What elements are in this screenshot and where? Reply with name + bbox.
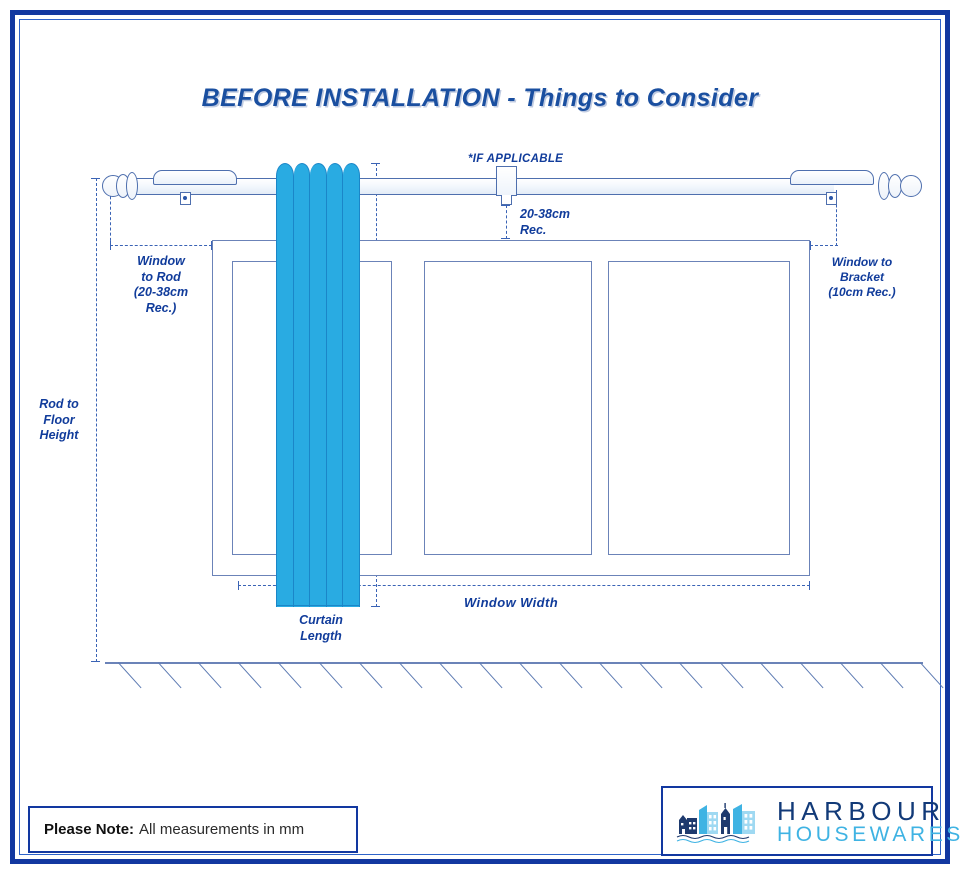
- annotation-curtain-length: Curtain Length: [280, 613, 362, 644]
- finial-left: [102, 170, 148, 201]
- annotation-window-to-bracket: Window to Bracket (10cm Rec.): [806, 255, 918, 300]
- diagram-page: BEFORE INSTALLATION - Things to Consider: [0, 0, 960, 874]
- annotation-rod-join-spacing: 20-38cm Rec.: [520, 207, 570, 238]
- annotation-window-to-rod: Window to Rod (20-38cm Rec.): [111, 254, 211, 317]
- window-to-bracket-line: [810, 245, 838, 246]
- curtain-pleat: [343, 163, 360, 607]
- rod-join-dimension-line: [506, 205, 507, 239]
- window-to-rod-left-cap: [110, 241, 111, 250]
- finial-right: [878, 170, 924, 201]
- curtain-pleat: [294, 163, 311, 607]
- rod-center-connector-foot: [501, 195, 512, 205]
- window-width-left-cap: [238, 581, 239, 590]
- window-pane-right: [608, 261, 790, 555]
- finial-right-ball: [900, 175, 922, 197]
- curtain-pleat: [327, 163, 344, 607]
- window-pane-center: [424, 261, 592, 555]
- curtain-hem: [276, 605, 360, 606]
- window-to-bracket-left-cap: [810, 241, 811, 250]
- wall-bracket-right-arm: [790, 170, 874, 185]
- curtain-pleat: [276, 163, 294, 607]
- curtain-length-bottom-cap: [371, 606, 380, 607]
- rod-join-top-cap: [501, 205, 510, 206]
- rod-join-bottom-cap: [501, 238, 510, 239]
- rod-to-floor-dimension-line: [96, 178, 97, 662]
- finial-left-ring: [126, 172, 138, 200]
- please-note-text: All measurements in mm: [139, 821, 304, 838]
- rod-center-connector: [496, 166, 517, 196]
- logo-line-harbour: HARBOUR: [777, 798, 960, 824]
- annotation-if-applicable: *IF APPLICABLE: [468, 152, 563, 166]
- rod-to-floor-top-cap: [91, 178, 100, 179]
- window-to-rod-top-line: [110, 245, 212, 246]
- please-note-box: Please Note: All measurements in mm: [28, 806, 358, 853]
- wall-bracket-left-screw: [183, 196, 187, 200]
- curtain-panel: [276, 163, 360, 607]
- window-width-right-cap: [809, 581, 810, 590]
- logo-line-housewares: HOUSEWARES: [777, 824, 960, 845]
- brand-logo: HARBOUR HOUSEWARES: [661, 786, 933, 856]
- annotation-window-width: Window Width: [464, 595, 558, 611]
- wall-bracket-left-arm: [153, 170, 237, 185]
- curtain-length-top-cap: [371, 163, 380, 164]
- page-title: BEFORE INSTALLATION - Things to Consider: [0, 84, 960, 113]
- harbour-buildings-icon: [673, 798, 769, 844]
- wall-bracket-right-screw: [829, 196, 833, 200]
- curtain-pleat: [310, 163, 327, 607]
- please-note-label: Please Note:: [44, 821, 134, 838]
- rod-to-floor-bottom-cap: [91, 661, 100, 662]
- annotation-rod-to-floor: Rod to Floor Height: [28, 397, 90, 444]
